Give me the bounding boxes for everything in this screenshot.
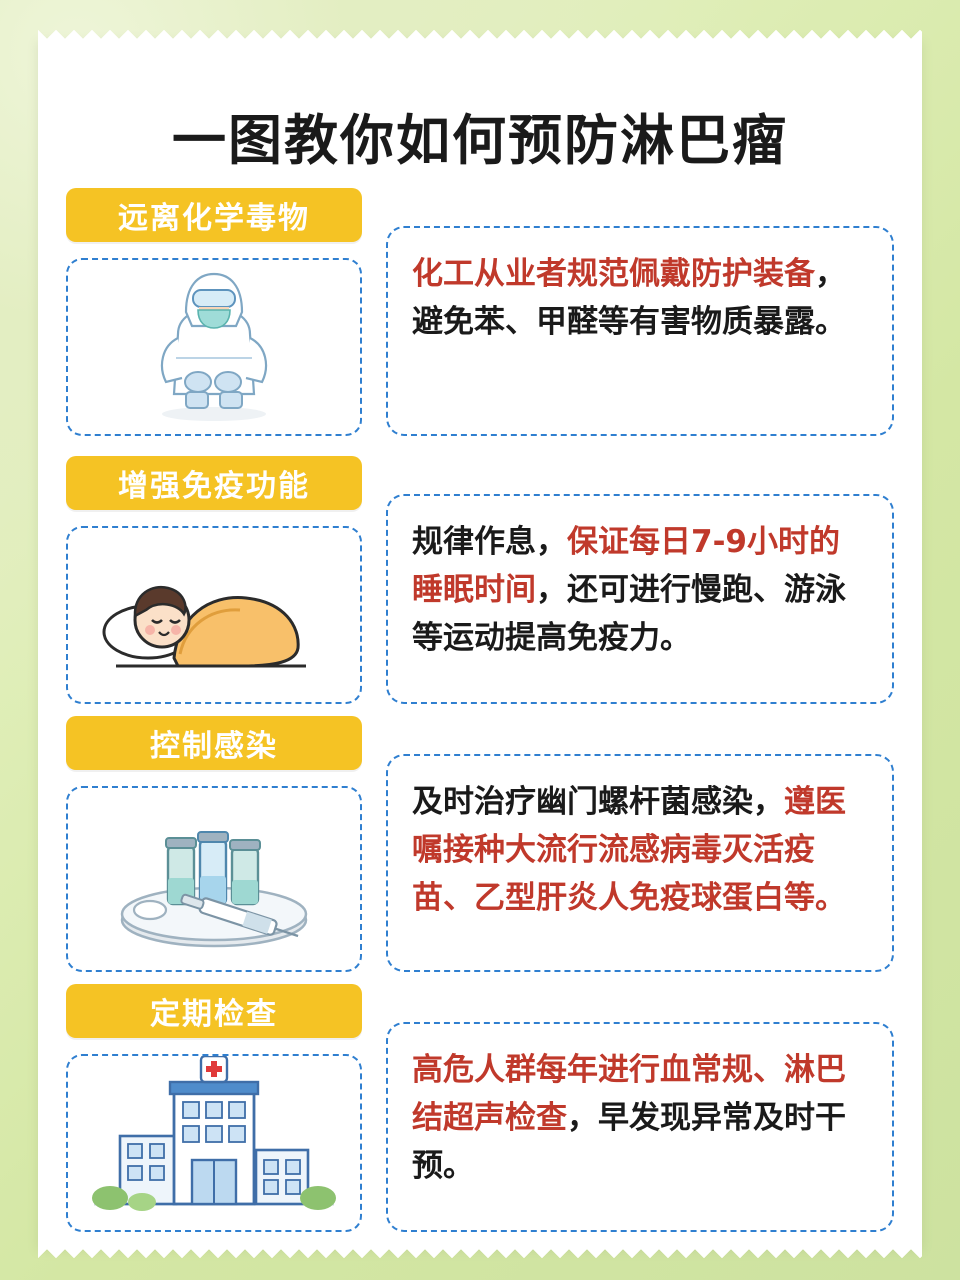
- section-badge-4: 定期检查: [66, 984, 362, 1038]
- section-image-3: [66, 786, 362, 972]
- poster-card: 一图教你如何预防淋巴瘤 远离化学毒物: [38, 40, 922, 1248]
- section-text-3: 及时治疗幽门螺杆菌感染，遵医嘱接种大流行流感病毒灭活疫苗、乙型肝炎人免疫球蛋白等…: [386, 754, 894, 972]
- section-image-1: [66, 258, 362, 436]
- sleeping-person-icon: [68, 528, 360, 702]
- hospital-building-icon: [68, 1056, 360, 1230]
- protective-suit-worker-icon: [68, 260, 360, 434]
- card-top-zigzag-edge: [38, 23, 922, 41]
- section-image-2: [66, 526, 362, 704]
- section-badge-1: 远离化学毒物: [66, 188, 362, 242]
- section-text-1: 化工从业者规范佩戴防护装备，避免苯、甲醛等有害物质暴露。: [386, 226, 894, 436]
- section-text-3-part-1: 及时治疗幽门螺杆菌感染，: [412, 784, 784, 820]
- section-text-2-part-1: 规律作息，: [412, 524, 567, 560]
- section-badge-2: 增强免疫功能: [66, 456, 362, 510]
- card-bottom-zigzag-edge: [38, 1247, 922, 1265]
- section-text-4: 高危人群每年进行血常规、淋巴结超声检查，早发现异常及时干预。: [386, 1022, 894, 1232]
- section-text-2: 规律作息，保证每日7-9小时的睡眠时间，还可进行慢跑、游泳等运动提高免疫力。: [386, 494, 894, 704]
- section-text-1-part-1: 化工从业者规范佩戴防护装备: [412, 256, 815, 292]
- page-title: 一图教你如何预防淋巴瘤: [38, 96, 922, 175]
- vaccine-vials-icon: [68, 788, 360, 970]
- section-image-4: [66, 1054, 362, 1232]
- section-badge-3: 控制感染: [66, 716, 362, 770]
